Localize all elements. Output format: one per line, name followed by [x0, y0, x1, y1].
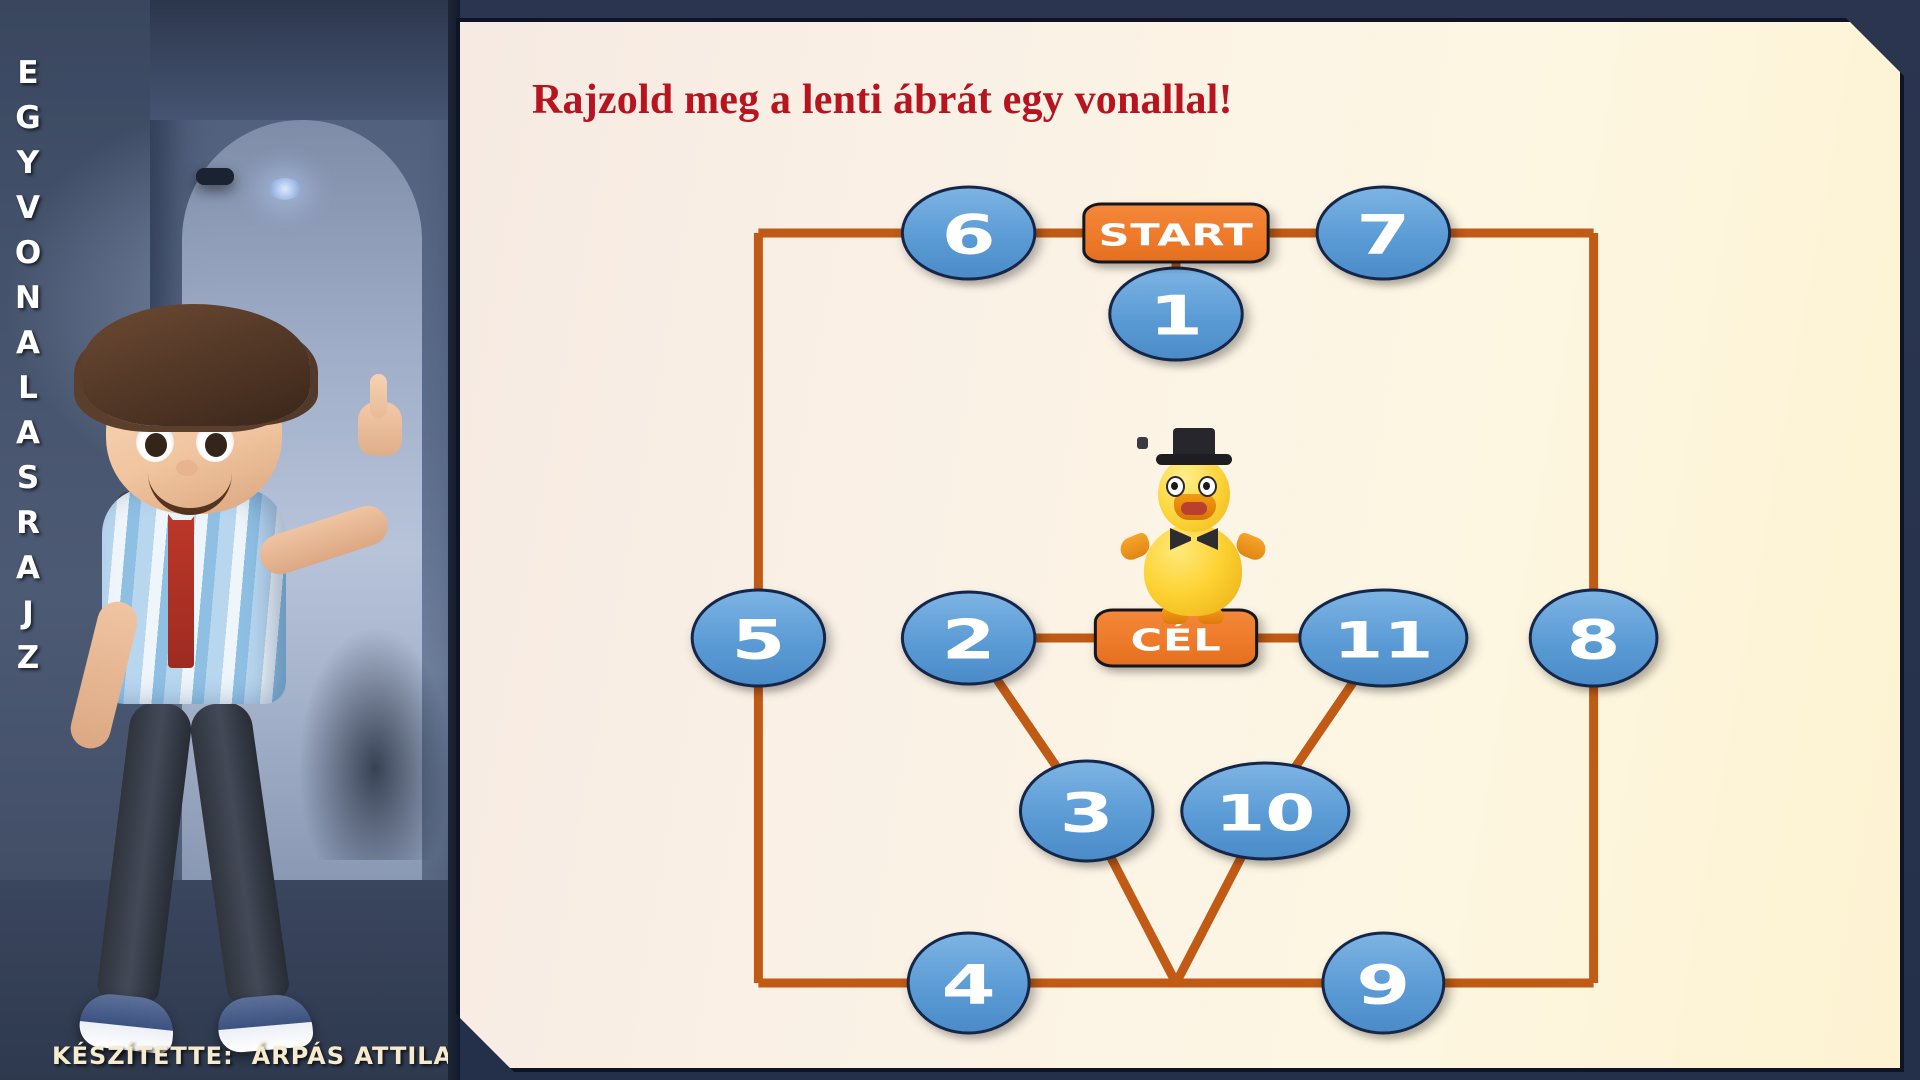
boy-shirt: [102, 488, 286, 704]
credit-line: KÉSZÍTETTE:ÁRPÁS ATTILA: [52, 1042, 448, 1070]
vertical-title-letter: A: [16, 328, 40, 359]
duck-beak: [1174, 494, 1216, 520]
duck-mascot: [1118, 432, 1268, 630]
vertical-title-letter: R: [16, 508, 40, 539]
vertical-title-letter: E: [17, 58, 38, 89]
vertical-title-letter: A: [16, 418, 40, 449]
boy-index-finger: [370, 374, 387, 418]
vertical-title: E G Y V O N A L A S R A J Z: [6, 58, 50, 674]
boy-leg-left: [96, 699, 194, 1004]
boy-hair: [82, 304, 310, 426]
duck-bow-tie: [1170, 528, 1218, 550]
vertical-title-letter: G: [15, 103, 40, 134]
ceiling-lamp-icon: [196, 168, 234, 185]
duck-bow-tie-knot: [1137, 437, 1148, 449]
vertical-title-letter: O: [15, 238, 41, 269]
duck-pupil-left: [1171, 482, 1178, 490]
duck-top-hat-brim: [1156, 454, 1232, 465]
credit-label: KÉSZÍTETTE:: [52, 1042, 234, 1070]
boy-character-illustration: [40, 270, 370, 1060]
vertical-title-letter: A: [16, 553, 40, 584]
boy-leg-right: [187, 699, 290, 1005]
vertical-title-letter: Z: [17, 643, 39, 674]
boy-necktie: [168, 496, 194, 668]
vertical-title-letter: J: [22, 598, 34, 629]
page-title: Rajzold meg a lenti ábrát egy vonallal!: [532, 76, 1233, 124]
ceiling-light-glow-icon: [268, 178, 302, 200]
vertical-title-letter: L: [18, 373, 38, 404]
vertical-title-letter: S: [17, 463, 39, 494]
ceiling: [150, 0, 448, 120]
left-illustration-panel: E G Y V O N A L A S R A J Z KÉSZÍTETTE:Á…: [0, 0, 448, 1080]
boy-pupil-right: [205, 433, 227, 457]
slide-stage: E G Y V O N A L A S R A J Z KÉSZÍTETTE:Á…: [0, 0, 1920, 1080]
vertical-title-letter: V: [16, 193, 40, 224]
duck-pupil-right: [1203, 482, 1210, 490]
vertical-title-letter: Y: [17, 148, 39, 179]
vertical-title-letter: N: [15, 283, 41, 314]
credit-author: ÁRPÁS ATTILA: [252, 1042, 448, 1070]
boy-pupil-left: [145, 433, 167, 457]
